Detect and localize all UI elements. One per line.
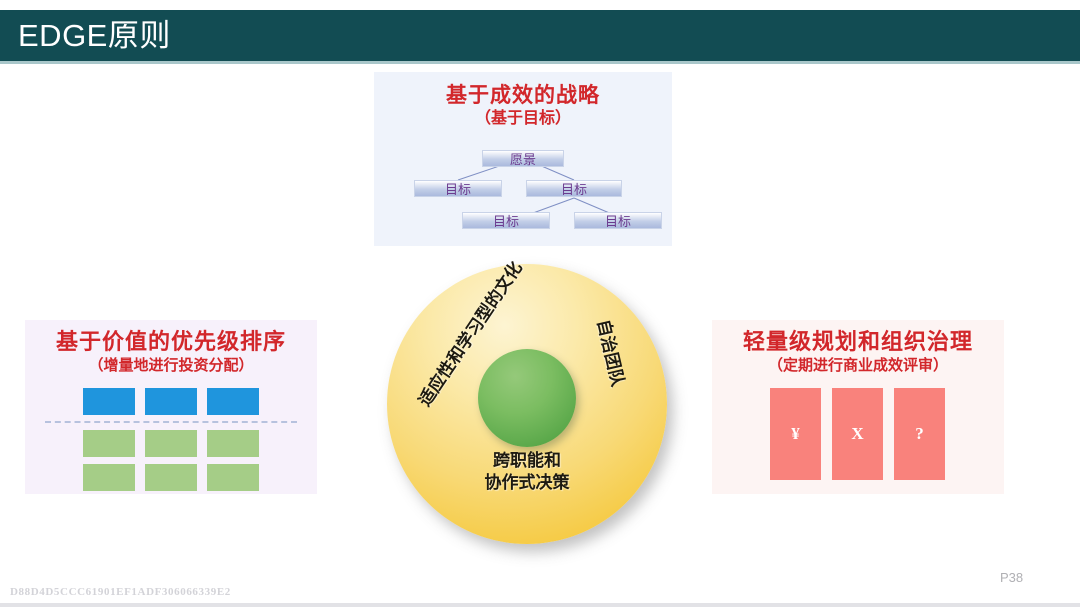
footer-rule bbox=[0, 603, 1080, 607]
priority-box-green-4[interactable] bbox=[83, 464, 135, 491]
priority-box-blue-1[interactable] bbox=[83, 388, 135, 415]
priority-box-green-3[interactable] bbox=[207, 430, 259, 457]
strategy-panel-title: 基于成效的战略 bbox=[374, 82, 672, 108]
culture-circle-outer: 适应性和学习型的文化 自治团队 跨职能和 协作式决策 bbox=[387, 264, 667, 544]
priority-box-green-2[interactable] bbox=[145, 430, 197, 457]
page-number: P38 bbox=[1000, 570, 1023, 585]
circle-label-cross-functional: 跨职能和 协作式决策 bbox=[387, 450, 667, 494]
governance-panel-subtitle: （定期进行商业成效评审） bbox=[712, 356, 1004, 376]
page-title: EDGE原则 bbox=[18, 17, 171, 55]
priority-panel-title: 基于价值的优先级排序 bbox=[25, 328, 317, 356]
governance-card-currency[interactable]: ¥ bbox=[770, 388, 821, 480]
tree-node-goal-3[interactable]: 目标 bbox=[462, 212, 550, 229]
priority-panel-subtitle: （增量地进行投资分配） bbox=[25, 356, 317, 376]
culture-circle-inner bbox=[478, 349, 576, 447]
tree-node-vision[interactable]: 愿景 bbox=[482, 150, 564, 167]
priority-cut-line bbox=[45, 421, 297, 423]
circle-label-cross-functional-line1: 跨职能和 bbox=[387, 450, 667, 472]
governance-panel-title: 轻量级规划和组织治理 bbox=[712, 328, 1004, 356]
governance-card-row: ¥ X ? bbox=[712, 388, 1004, 494]
footer-watermark: D88D4D5CCC61901EF1ADF306066339E2 bbox=[10, 586, 231, 598]
tree-node-goal-4[interactable]: 目标 bbox=[574, 212, 662, 229]
circle-label-autonomous-teams: 自治团队 bbox=[587, 297, 633, 409]
priority-box-green-5[interactable] bbox=[145, 464, 197, 491]
priority-box-blue-3[interactable] bbox=[207, 388, 259, 415]
governance-card-cross[interactable]: X bbox=[832, 388, 883, 480]
strategy-panel-subtitle: （基于目标） bbox=[374, 109, 672, 129]
priority-box-blue-2[interactable] bbox=[145, 388, 197, 415]
tree-node-goal-2[interactable]: 目标 bbox=[526, 180, 622, 197]
governance-card-question[interactable]: ? bbox=[894, 388, 945, 480]
priority-box-green-6[interactable] bbox=[207, 464, 259, 491]
panel-lightweight-governance: 轻量级规划和组织治理 （定期进行商业成效评审） ¥ X ? bbox=[712, 320, 1004, 494]
priority-box-green-1[interactable] bbox=[83, 430, 135, 457]
tree-node-goal-1[interactable]: 目标 bbox=[414, 180, 502, 197]
priority-grid bbox=[25, 386, 317, 494]
header-accent-line bbox=[0, 61, 1080, 64]
panel-outcome-driven-strategy: 基于成效的战略 （基于目标） 愿景 目标 目标 目标 目标 bbox=[374, 72, 672, 246]
panel-value-based-prioritization: 基于价值的优先级排序 （增量地进行投资分配） bbox=[25, 320, 317, 494]
strategy-tree: 愿景 目标 目标 目标 目标 bbox=[374, 138, 672, 246]
circle-label-cross-functional-line2: 协作式决策 bbox=[387, 472, 667, 494]
